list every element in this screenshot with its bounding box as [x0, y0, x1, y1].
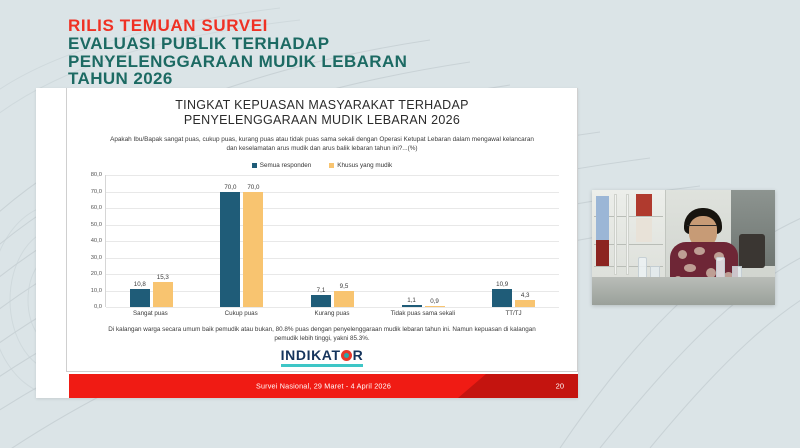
gridline: [106, 307, 559, 308]
bar-holder: 1,1: [402, 175, 422, 307]
bar[interactable]: [425, 306, 445, 307]
bar-holder: 70,0: [243, 175, 263, 307]
x-axis-category-label: TT/TJ: [468, 307, 559, 317]
bar-group: 10,815,3: [106, 175, 197, 307]
y-axis-tick: 50,0: [91, 222, 102, 228]
chart-question: Apakah Ibu/Bapak sangat puas, cukup puas…: [67, 128, 577, 153]
logo-text-part-2: R: [353, 348, 364, 363]
legend-item-1: Khusus yang mudik: [329, 162, 392, 169]
bar-value-label: 0,9: [430, 298, 439, 305]
headline-line-1: RILIS TEMUAN SURVEI: [68, 16, 407, 35]
bar[interactable]: [402, 305, 422, 307]
bar-holder: 15,3: [153, 175, 173, 307]
x-axis-category-label: Cukup puas: [196, 307, 287, 317]
y-axis: 0,010,020,030,040,050,060,070,080,0: [77, 175, 105, 307]
logo-target-icon: [341, 350, 352, 361]
bar[interactable]: [220, 192, 240, 308]
bar-value-label: 10,9: [496, 281, 508, 288]
x-axis-category-label: Tidak puas sama sekali: [377, 307, 468, 317]
video-desk: [592, 277, 775, 305]
presentation-slide: TINGKAT KEPUASAN MASYARAKAT TERHADAP PEN…: [36, 88, 578, 398]
y-axis-tick: 30,0: [91, 255, 102, 261]
bar[interactable]: [492, 289, 512, 307]
chart-legend: Semua respondenKhusus yang mudik: [67, 162, 577, 169]
bar-value-label: 15,3: [157, 274, 169, 281]
chart-note-line-1: Di kalangan warga secara umum baik pemud…: [108, 326, 450, 333]
legend-swatch-icon: [329, 163, 334, 168]
chart-title: TINGKAT KEPUASAN MASYARAKAT TERHADAP PEN…: [67, 88, 577, 128]
chart-question-line-1: Apakah Ibu/Bapak sangat puas, cukup puas…: [110, 136, 426, 143]
chart-plot-area: 0,010,020,030,040,050,060,070,080,0 10,8…: [77, 175, 559, 307]
bar-value-label: 70,0: [247, 184, 259, 191]
bar-holder: 7,1: [311, 175, 331, 307]
bar-value-label: 9,5: [340, 283, 349, 290]
bar-holder: 70,0: [220, 175, 240, 307]
video-chair: [739, 234, 765, 268]
chart-title-line-2: PENYELENGGARAAN MUDIK LEBARAN 2026: [67, 113, 577, 128]
y-axis-tick: 0,0: [94, 304, 102, 310]
logo-text-part-1: INDIKAT: [281, 348, 341, 363]
y-axis-tick: 80,0: [91, 172, 102, 178]
slide-content-frame: TINGKAT KEPUASAN MASYARAKAT TERHADAP PEN…: [66, 88, 578, 372]
headline-block: RILIS TEMUAN SURVEI EVALUASI PUBLIK TERH…: [68, 16, 407, 88]
x-axis-category-label: Kurang puas: [287, 307, 378, 317]
bar-value-label: 70,0: [224, 184, 236, 191]
bar[interactable]: [334, 291, 354, 307]
glasses-icon: [687, 225, 717, 231]
y-axis-tick: 70,0: [91, 189, 102, 195]
bar[interactable]: [311, 295, 331, 307]
y-axis-tick: 20,0: [91, 271, 102, 277]
y-axis-tick: 40,0: [91, 238, 102, 244]
video-speaker: [668, 208, 740, 288]
y-axis-tick: 10,0: [91, 288, 102, 294]
bar-holder: 9,5: [334, 175, 354, 307]
bar[interactable]: [243, 192, 263, 308]
legend-swatch-icon: [252, 163, 257, 168]
bar-value-label: 7,1: [317, 287, 326, 294]
x-axis-category-label: Sangat puas: [105, 307, 196, 317]
x-axis-labels: Sangat puasCukup puasKurang puasTidak pu…: [77, 307, 559, 317]
bar-group: 7,19,5: [287, 175, 378, 307]
headline-line-4: TAHUN 2026: [68, 70, 407, 88]
bar-holder: 10,9: [492, 175, 512, 307]
legend-label: Semua responden: [260, 162, 311, 169]
slide-footer-bar: Survei Nasional, 29 Maret - 4 April 2026…: [69, 374, 578, 398]
headline-line-3: PENYELENGGARAAN MUDIK LEBARAN: [68, 53, 407, 71]
headline-line-2: EVALUASI PUBLIK TERHADAP: [68, 35, 407, 53]
bar-group: 1,10,9: [378, 175, 469, 307]
footer-survey-text: Survei Nasional, 29 Maret - 4 April 2026: [69, 382, 578, 391]
bar-value-label: 1,1: [407, 297, 416, 304]
bar-holder: 10,8: [130, 175, 150, 307]
legend-item-0: Semua responden: [252, 162, 311, 169]
y-axis-tick: 60,0: [91, 205, 102, 211]
bar-groups: 10,815,370,070,07,19,51,10,910,94,3: [106, 175, 559, 307]
bar[interactable]: [515, 300, 535, 307]
bar-holder: 0,9: [425, 175, 445, 307]
logo-underline: [281, 364, 364, 367]
bar[interactable]: [153, 282, 173, 307]
bar-group: 10,94,3: [468, 175, 559, 307]
legend-label: Khusus yang mudik: [337, 162, 392, 169]
chart-title-line-1: TINGKAT KEPUASAN MASYARAKAT TERHADAP: [175, 98, 469, 112]
bar-group: 70,070,0: [197, 175, 288, 307]
bar[interactable]: [130, 289, 150, 307]
bar-value-label: 10,8: [134, 281, 146, 288]
bar-value-label: 4,3: [521, 292, 530, 299]
plot-canvas: 10,815,370,070,07,19,51,10,910,94,3: [105, 175, 559, 307]
footer-page-number: 20: [556, 382, 564, 391]
indikator-logo: INDIKAT R: [67, 348, 577, 367]
chart-note: Di kalangan warga secara umum baik pemud…: [67, 317, 577, 343]
speaker-video-panel[interactable]: [592, 190, 775, 305]
bar-holder: 4,3: [515, 175, 535, 307]
